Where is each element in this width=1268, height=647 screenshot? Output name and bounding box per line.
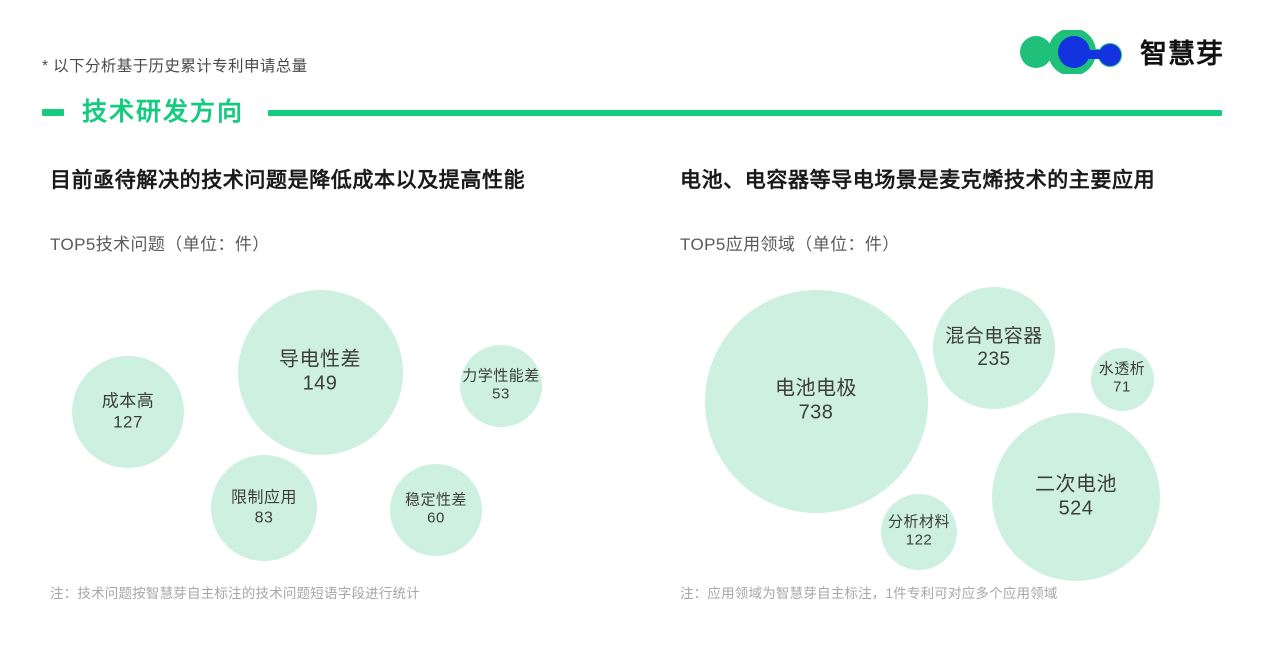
brand-logo: 智慧芽 [1014, 30, 1224, 79]
bubble-value: 122 [888, 532, 950, 550]
bubble-label: 成本高 [102, 391, 155, 412]
section-divider-rule [268, 110, 1222, 116]
bubble-value: 60 [405, 510, 467, 528]
bubble[interactable]: 二次电池524 [992, 413, 1160, 581]
panel-title: 电池、电容器等导电场景是麦克烯技术的主要应用 [680, 164, 1155, 194]
bubble[interactable]: 限制应用83 [211, 455, 317, 561]
panel-subtitle: TOP5应用领域（单位：件） [680, 230, 900, 255]
bubble-value: 83 [231, 508, 297, 528]
bubble-chart-tech-problems: 成本高127导电性差149力学性能差53限制应用83稳定性差60 [42, 270, 642, 570]
section-title: 技术研发方向 [82, 100, 244, 125]
bubble-value: 235 [945, 348, 1043, 371]
section-header: 技术研发方向 [42, 100, 1222, 125]
bubble-label: 水透析 [1099, 361, 1146, 379]
bubble-chart-application-fields: 电池电极738混合电容器235水透析71二次电池524分析材料122 [672, 270, 1268, 570]
panel-subtitle: TOP5技术问题（单位：件） [50, 230, 270, 255]
bubble-label: 限制应用 [231, 488, 297, 508]
bubble[interactable]: 稳定性差60 [390, 464, 482, 556]
panel-tech-problems: 目前亟待解决的技术问题是降低成本以及提高性能 TOP5技术问题（单位：件） 成本… [42, 150, 642, 620]
bubble-label: 力学性能差 [462, 368, 540, 386]
bubble-label: 二次电池 [1035, 473, 1117, 497]
bubble-label: 导电性差 [279, 348, 361, 372]
analysis-basis-note: * 以下分析基于历史累计专利申请总量 [42, 54, 308, 76]
bubble[interactable]: 成本高127 [72, 356, 184, 468]
bubble-value: 53 [462, 386, 540, 404]
panel-application-fields: 电池、电容器等导电场景是麦克烯技术的主要应用 TOP5应用领域（单位：件） 电池… [672, 150, 1268, 620]
panel-note: 注：技术问题按智慧芽自主标注的技术问题短语字段进行统计 [50, 582, 420, 602]
brand-name: 智慧芽 [1140, 41, 1224, 68]
section-dash-icon [42, 109, 64, 116]
bubble[interactable]: 力学性能差53 [460, 345, 542, 427]
bubble[interactable]: 水透析71 [1091, 348, 1154, 411]
bubble-label: 电池电极 [775, 377, 857, 401]
bubble-value: 149 [279, 372, 361, 396]
bubble-value: 127 [102, 412, 155, 433]
bubble[interactable]: 分析材料122 [881, 494, 957, 570]
bubble-value: 524 [1035, 497, 1117, 521]
bubble[interactable]: 混合电容器235 [933, 287, 1055, 409]
panel-title: 目前亟待解决的技术问题是降低成本以及提高性能 [50, 164, 525, 194]
panel-note: 注：应用领域为智慧芽自主标注，1件专利可对应多个应用领域 [680, 582, 1058, 602]
bubble-label: 分析材料 [888, 514, 950, 532]
zhihuiya-logo-icon [1014, 30, 1128, 79]
bubble-value: 738 [775, 401, 857, 425]
bubble-value: 71 [1099, 379, 1146, 397]
bubble-label: 混合电容器 [945, 325, 1043, 348]
bubble-label: 稳定性差 [405, 492, 467, 510]
bubble[interactable]: 导电性差149 [238, 290, 403, 455]
bubble[interactable]: 电池电极738 [705, 290, 928, 513]
